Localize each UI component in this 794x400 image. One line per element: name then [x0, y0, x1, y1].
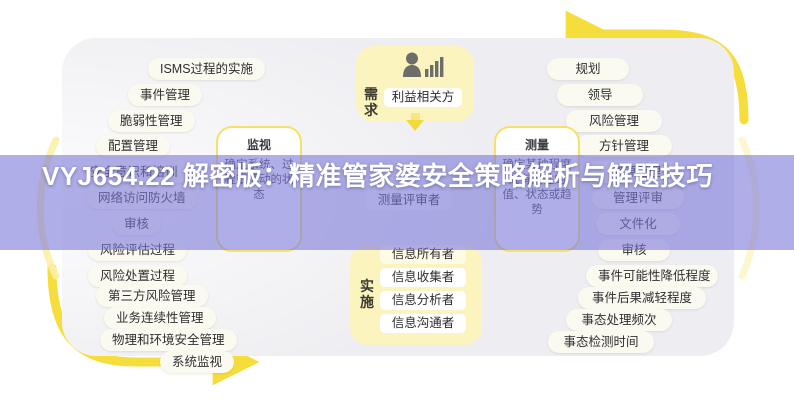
overlay-title: VYJ654.22 解密版：精准管家婆安全策略解析与解题技巧	[0, 158, 794, 195]
list-item[interactable]: 系统监视	[160, 351, 234, 373]
info-analyst-chip[interactable]: 信息分析者	[380, 291, 466, 310]
info-communicator-chip[interactable]: 信息沟通者	[380, 314, 466, 333]
monitoring-box-title: 监视	[218, 136, 300, 153]
list-item[interactable]: 方针管理	[576, 135, 672, 157]
measurement-box-title: 测量	[496, 136, 578, 153]
list-item[interactable]: 事件管理	[128, 84, 202, 106]
list-item[interactable]: 领导	[557, 84, 643, 106]
list-item[interactable]: ISMS过程的实施	[148, 58, 265, 80]
list-item[interactable]: 规划	[547, 58, 629, 80]
list-item[interactable]: 事件可能性降低程度	[586, 265, 718, 287]
stakeholder-chip[interactable]: 利益相关方	[384, 88, 462, 107]
list-item[interactable]: 配置管理	[96, 135, 170, 157]
list-item[interactable]: 脆弱性管理	[108, 110, 195, 132]
implementation-label: 实施	[358, 278, 376, 310]
list-item[interactable]: 风险处置过程	[88, 265, 187, 287]
list-item[interactable]: 业务连续性管理	[104, 307, 216, 329]
person-with-bars-icon	[399, 52, 445, 78]
list-item[interactable]: 事态处理频次	[566, 309, 672, 331]
list-item[interactable]: 风险管理	[566, 110, 662, 132]
list-item[interactable]: 物理和环境安全管理	[100, 329, 237, 351]
requirements-label: 需求	[362, 86, 380, 118]
list-item[interactable]: 事态检测时间	[548, 331, 654, 353]
diagram-canvas: ISMS过程的实施 事件管理 脆弱性管理 配置管理 安全意识和培训 网络访问防火…	[0, 0, 794, 400]
down-arrow-icon	[406, 120, 424, 131]
info-collector-chip[interactable]: 信息收集者	[380, 268, 466, 287]
list-item[interactable]: 第三方风险管理	[96, 285, 208, 307]
list-item[interactable]: 事件后果减轻程度	[578, 287, 706, 309]
